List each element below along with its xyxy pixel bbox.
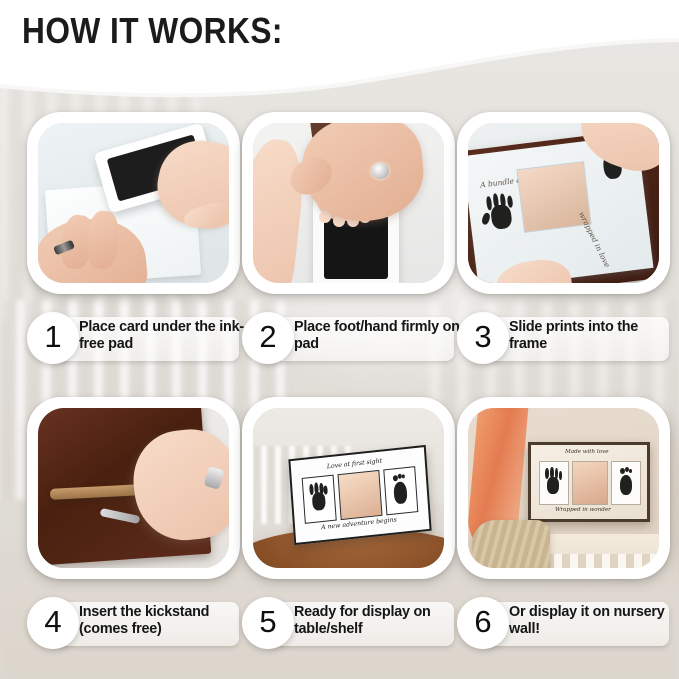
photo-frame: Love at first sight	[288, 445, 431, 545]
step-card-4: Insert the kickstand (comes free) 4	[27, 397, 240, 579]
step-1-caption-text: Place card under the ink-free pad	[79, 319, 245, 353]
handprint	[306, 481, 330, 515]
step-card-3: A bundle of joy	[457, 112, 670, 294]
step-2-caption-text: Place foot/hand firmly on pad	[294, 319, 460, 353]
step-4-caption: Insert the kickstand (comes free) 4	[27, 597, 240, 651]
frame-text-top: Made with love	[565, 449, 609, 455]
scene-hands-pressing-baby-foot-on-pad	[253, 123, 444, 283]
step-5-photo-tile: Love at first sight	[242, 397, 455, 579]
step-6-caption: Or display it on nursery wall! 6	[457, 597, 670, 651]
step-6-caption-text: Or display it on nursery wall!	[509, 604, 675, 638]
step-5-photo: Love at first sight	[253, 408, 444, 568]
scene-inserting-wooden-kickstand	[38, 408, 229, 568]
step-1-number-badge: 1	[27, 312, 79, 364]
step-5-number-badge: 5	[242, 597, 294, 649]
step-3-caption-text: Slide prints into the frame	[509, 319, 675, 353]
footprint	[389, 473, 411, 507]
step-card-2: Place foot/hand firmly on pad 2	[242, 112, 455, 294]
scene-sliding-print-card-into-frame: A bundle of joy	[468, 123, 659, 283]
wall-photo-frame: Made with love	[528, 442, 650, 522]
photo-slot	[337, 470, 382, 520]
photo-slot	[572, 461, 608, 505]
scene-hand-holding-ink-free-pad-over-card	[38, 123, 229, 283]
handprint	[543, 467, 563, 497]
step-card-5: Love at first sight	[242, 397, 455, 579]
step-card-1: Place card under the ink-free pad 1	[27, 112, 240, 294]
step-1-photo	[38, 123, 229, 283]
step-6-photo-tile: Made with love	[457, 397, 670, 579]
footprint	[617, 467, 635, 497]
crib-slats	[538, 554, 659, 568]
step-5-caption-text: Ready for display on table/shelf	[294, 604, 460, 638]
step-2-caption: Place foot/hand firmly on pad 2	[242, 312, 455, 366]
knit-blanket	[472, 520, 550, 568]
step-3-photo: A bundle of joy	[468, 123, 659, 283]
step-2-number-badge: 2	[242, 312, 294, 364]
handprint	[480, 191, 521, 237]
how-it-works-poster: HOW IT WORKS:	[0, 0, 679, 679]
step-card-6: Made with love	[457, 397, 670, 579]
step-5-caption: Ready for display on table/shelf 5	[242, 597, 455, 651]
step-2-photo-tile	[242, 112, 455, 294]
frame-text-bottom: Wrapped in wonder	[555, 507, 611, 513]
step-4-photo-tile	[27, 397, 240, 579]
frame-text-top: Love at first sight	[327, 458, 383, 471]
step-1-caption: Place card under the ink-free pad 1	[27, 312, 240, 366]
step-4-photo	[38, 408, 229, 568]
step-6-number-badge: 6	[457, 597, 509, 649]
step-3-photo-tile: A bundle of joy	[457, 112, 670, 294]
step-3-caption: Slide prints into the frame 3	[457, 312, 670, 366]
step-1-photo-tile	[27, 112, 240, 294]
step-4-caption-text: Insert the kickstand (comes free)	[79, 604, 245, 638]
step-3-number-badge: 3	[457, 312, 509, 364]
steps-grid: Place card under the ink-free pad 1	[0, 0, 679, 679]
baby-leg	[253, 136, 308, 283]
scene-frame-on-wooden-table: Love at first sight	[253, 408, 444, 568]
step-2-photo	[253, 123, 444, 283]
step-4-number-badge: 4	[27, 597, 79, 649]
scene-frame-on-nursery-wall: Made with love	[468, 408, 659, 568]
step-6-photo: Made with love	[468, 408, 659, 568]
wedding-ring	[371, 163, 389, 179]
